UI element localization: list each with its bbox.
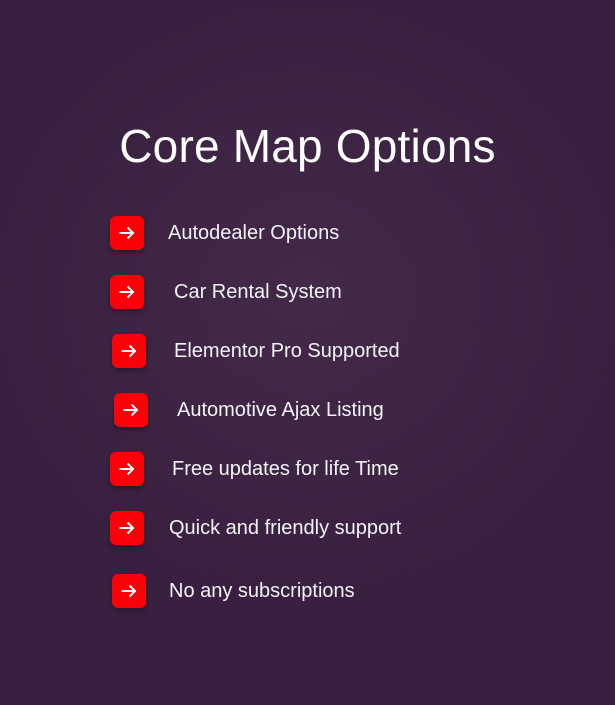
page-title: Core Map Options xyxy=(0,123,615,169)
arrow-right-icon xyxy=(110,275,144,309)
feature-item[interactable]: Automotive Ajax Listing xyxy=(114,392,384,428)
feature-item[interactable]: Autodealer Options xyxy=(110,215,339,251)
slide-content: Core Map Options Autodealer OptionsCar R… xyxy=(0,0,615,705)
arrow-right-icon xyxy=(112,334,146,368)
arrow-right-icon xyxy=(114,393,148,427)
feature-item[interactable]: No any subscriptions xyxy=(112,573,355,609)
feature-label: No any subscriptions xyxy=(169,580,355,602)
feature-label: Elementor Pro Supported xyxy=(174,340,400,362)
slide-canvas: Core Map Options Autodealer OptionsCar R… xyxy=(0,0,615,705)
feature-item[interactable]: Free updates for life Time xyxy=(110,451,399,487)
feature-item[interactable]: Elementor Pro Supported xyxy=(112,333,400,369)
arrow-right-icon xyxy=(112,574,146,608)
feature-label: Quick and friendly support xyxy=(169,517,401,539)
feature-label: Autodealer Options xyxy=(168,222,339,244)
feature-item[interactable]: Car Rental System xyxy=(110,274,342,310)
feature-label: Free updates for life Time xyxy=(172,458,399,480)
arrow-right-icon xyxy=(110,216,144,250)
feature-label: Car Rental System xyxy=(174,281,342,303)
arrow-right-icon xyxy=(110,511,144,545)
feature-item[interactable]: Quick and friendly support xyxy=(110,510,401,546)
feature-label: Automotive Ajax Listing xyxy=(177,399,384,421)
arrow-right-icon xyxy=(110,452,144,486)
